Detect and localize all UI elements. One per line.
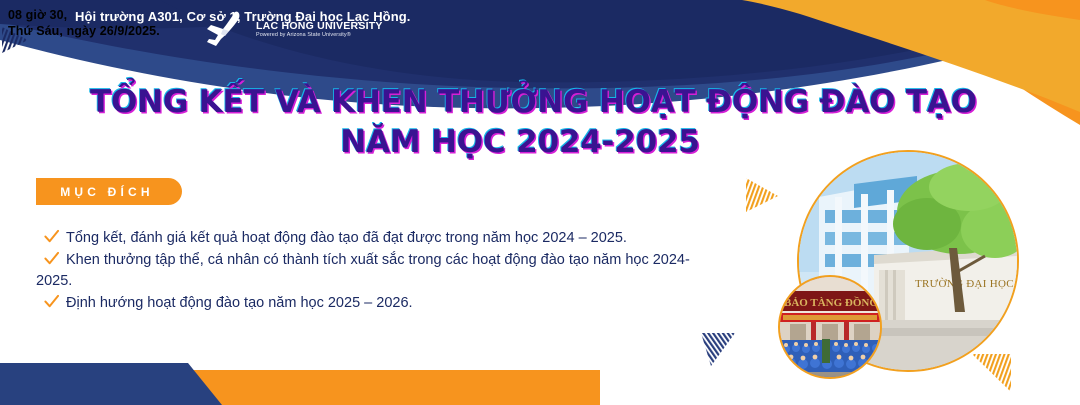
- logo-subtitle: Powered by Arizona State University®: [256, 33, 383, 39]
- list-item: Khen thưởng tập thể, cá nhân có thành tí…: [36, 250, 696, 292]
- check-icon: [44, 229, 59, 245]
- event-banner: LAC HONG UNIVERSITY Powered by Arizona S…: [0, 0, 1080, 405]
- list-item-text: Định hướng hoạt động đào tạo năm học 202…: [66, 295, 413, 311]
- datetime-bar: [0, 363, 222, 405]
- svg-text:TRƯỜNG ĐẠI HỌC LẠC HỒNG: TRƯỜNG ĐẠI HỌC LẠC HỒNG: [915, 277, 1017, 290]
- students-photo: BẢO TÀNG ĐỒNG N: [778, 275, 882, 379]
- check-icon: [44, 294, 59, 310]
- triangle-orange-bottomright: [972, 354, 1011, 392]
- list-item-text: Tổng kết, đánh giá kết quả hoạt động đào…: [66, 230, 627, 246]
- students-photo-image: BẢO TÀNG ĐỒNG N: [780, 277, 880, 377]
- title-line-1: TỔNG KẾT VÀ KHEN THƯỞNG HOẠT ĐỘNG ĐÀO TẠ…: [90, 82, 950, 122]
- list-item: Tổng kết, đánh giá kết quả hoạt động đào…: [36, 228, 696, 249]
- page-title: TỔNG KẾT VÀ KHEN THƯỞNG HOẠT ĐỘNG ĐÀO TẠ…: [90, 82, 950, 162]
- list-item-text: Khen thưởng tập thể, cá nhân có thành tí…: [36, 252, 690, 289]
- datetime-label: 08 giờ 30, Thứ Sáu, ngày 26/9/2025.: [8, 7, 160, 39]
- title-line-2: NĂM HỌC 2024-2025: [90, 122, 950, 162]
- list-item: Định hướng hoạt động đào tạo năm học 202…: [36, 293, 696, 314]
- purpose-badge: MỤC ĐÍCH: [36, 178, 182, 205]
- check-icon: [44, 251, 59, 267]
- purpose-badge-label: MỤC ĐÍCH: [60, 185, 154, 199]
- svg-text:BẢO TÀNG ĐỒNG N: BẢO TÀNG ĐỒNG N: [784, 296, 880, 309]
- triangle-orange-mid: [746, 178, 778, 212]
- purpose-list: Tổng kết, đánh giá kết quả hoạt động đào…: [36, 228, 696, 315]
- triangle-navy-bottom: [701, 333, 735, 366]
- venue-bar: [170, 370, 600, 405]
